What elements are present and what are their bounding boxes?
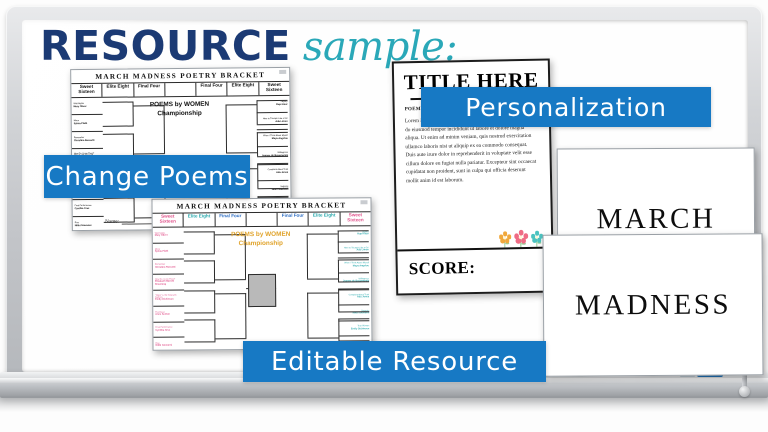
title-word-resource: RESOURCE	[40, 26, 291, 67]
bracket-championship-label: POEMS by WOMENChampionship	[133, 101, 226, 119]
seed-poem-author: Cynthia Cruz	[75, 208, 104, 211]
bracket-connector	[184, 312, 215, 313]
bracket-seed-cell[interactable]: "Hope" is the thing with feathersEmily D…	[153, 291, 184, 307]
bracket-connector	[184, 290, 215, 291]
bracket-seed-cell[interactable]: How Do I Love Thee?Elizabeth Barrett Bro…	[153, 275, 184, 291]
bracket-header-cell: Final Four	[134, 83, 165, 96]
bracket-seed-cell[interactable]: Final PerformanceCynthia Cruz	[153, 322, 184, 338]
bracket-header-cell	[165, 83, 196, 96]
seed-poem-author: Elizabeth Barrett Browning	[155, 281, 184, 287]
bracket-connector	[338, 259, 369, 260]
bracket-corner-mark-2	[360, 200, 367, 204]
bracket-connector	[245, 293, 246, 338]
bracket-connector	[184, 342, 215, 343]
bracket-seed-column: Wild NightsMary OliverMirrorSylvia Plath…	[153, 228, 185, 346]
bracket-champion-slot[interactable]	[248, 274, 277, 307]
banner-personalization-label: Personalization	[465, 93, 667, 122]
word-card-march-text: MARCH	[596, 202, 715, 236]
bracket-connector	[102, 101, 133, 102]
bracket-header-cell: Elite Eight	[103, 83, 134, 96]
bracket-header-cell: Elite Eight	[184, 213, 215, 226]
bracket-connector	[184, 231, 215, 232]
bracket-seed-cell[interactable]: Final PerformanceCynthia Cruz	[73, 200, 104, 217]
bracket-connector	[338, 252, 369, 253]
banner-editable-resource[interactable]: Editable Resource	[243, 341, 546, 382]
bracket-header-cell: Final Four	[196, 83, 227, 96]
bracket-seed-cell[interactable]: MirrorSylvia Plath	[72, 115, 103, 132]
banner-editable-resource-label: Editable Resource	[271, 347, 518, 377]
bracket-seed-cell[interactable]: RememberChristina Rossetti	[72, 132, 103, 149]
bracket-seed-cell[interactable]: Wild NightsMary Oliver	[71, 98, 102, 115]
word-card-madness-text: MADNESS	[575, 288, 731, 322]
banner-change-poems-label: Change Poems	[46, 162, 249, 192]
bracket-connector	[215, 279, 246, 280]
bracket-seed-cell[interactable]: True WomenEmily Dickinson	[338, 321, 369, 337]
seed-poem-author: Nikki Giovanni	[155, 345, 184, 348]
bracket-seed-cell[interactable]: LegacyRupi Kaur	[338, 226, 369, 242]
seed-poem-author: Emily Dickinson	[341, 328, 370, 331]
flower-icon	[498, 231, 511, 247]
seed-poem-author: Ada Jones	[259, 172, 288, 175]
bracket-sheet-color[interactable]: MARCH MADNESS POETRY BRACKET Sweet Sixte…	[151, 197, 372, 351]
seed-poem-author: Christina Rossetti	[155, 266, 184, 269]
bracket-header-cell: Sweet Sixteen	[71, 84, 102, 97]
seed-poem-author: Rupi Kaur	[340, 233, 369, 236]
seed-poem-author: Cynthia Cruz	[155, 329, 184, 332]
bracket-seed-cell[interactable]: LegacyRupi Kaur	[257, 96, 288, 113]
seed-poem-author: Anne Sexton	[155, 313, 184, 316]
flower-decoration-group	[498, 231, 543, 248]
seed-poem-author: Emily Dickinson	[155, 299, 184, 302]
banner-change-poems[interactable]: Change Poems	[44, 155, 250, 198]
bracket-connector	[184, 319, 215, 320]
bracket-connector	[307, 234, 338, 235]
bracket-seed-cell[interactable]: RememberChristina Rossetti	[153, 259, 184, 275]
bracket-connector	[184, 260, 215, 261]
championship-line-2: Championship	[214, 239, 307, 248]
screenshot-stage: RESOURCE sample: MARCH MADNESS POETRY BR…	[0, 0, 768, 432]
seed-poem-author: Sylvia Plath	[74, 123, 103, 126]
bracket-seed-cell[interactable]: MirrorSylvia Plath	[153, 243, 184, 259]
bracket-header-cell	[246, 213, 277, 226]
bracket-connector	[226, 153, 257, 154]
bracket-header-cell: Elite Eight	[309, 212, 340, 225]
bracket-seed-cell[interactable]: The RoadAnne Sexton	[153, 306, 184, 322]
bracket-seed-cell[interactable]: Wild NightsMary Oliver	[153, 228, 184, 244]
bracket-championship-label: POEMS by WOMENChampionship	[214, 231, 307, 249]
banner-personalization[interactable]: Personalization	[421, 87, 711, 127]
bracket-connector	[338, 318, 369, 319]
championship-line-2: Championship	[133, 109, 226, 119]
bracket-seed-cell[interactable]: Here to Triumph Like a GirlAda Limon	[257, 113, 288, 130]
seed-poem-author: Maya Angelou	[340, 265, 369, 268]
bracket-body-2: Wild NightsMary OliverMirrorSylvia Plath…	[153, 226, 372, 346]
seed-poem-author: Christina Rossetti	[74, 140, 103, 143]
whiteboard-tray-shadow	[0, 396, 768, 412]
bracket-header-cell: Final Four	[215, 213, 246, 226]
bracket-header-cell: Sweet Sixteen	[340, 212, 370, 225]
seed-poem-author: Mary Oliver	[155, 235, 184, 238]
bracket-connector	[338, 282, 369, 283]
score-label: SCORE:	[397, 249, 552, 280]
seed-poem-author: Nikki Giovanni	[75, 225, 104, 228]
seed-poem-author: Sylvia Plath	[155, 250, 184, 253]
bracket-header-cell: Sweet Sixteen	[259, 82, 289, 95]
bracket-connector	[307, 293, 338, 294]
bracket-connector	[184, 253, 215, 254]
flower-icon	[513, 230, 528, 249]
bracket-seed-cell[interactable]: Complaint About TruthAda Jones	[257, 164, 288, 181]
bracket-seed-cell[interactable]: Here to Triumph Like a GirlAda Limon	[338, 242, 369, 258]
seed-poem-author: Mary Oliver	[74, 106, 103, 109]
bracket-header-cell: Elite Eight	[228, 82, 259, 95]
bracket-name-label: Name:	[105, 219, 119, 225]
seed-poem-author: Rupi Kaur	[259, 104, 288, 107]
bracket-seed-column: LegacyRupi KaurHere to Triumph Like a Gi…	[338, 226, 370, 344]
bracket-connector	[103, 133, 134, 134]
bracket-connector	[215, 293, 246, 294]
bracket-header-cell: Sweet Sixteen	[153, 214, 184, 227]
bracket-seed-cell[interactable]: RiseNikki Giovanni	[73, 217, 104, 231]
bracket-connector	[215, 338, 246, 339]
word-card-madness[interactable]: MADNESS	[543, 233, 764, 377]
bracket-connector	[308, 337, 339, 338]
bracket-connector	[338, 230, 369, 231]
bracket-corner-mark	[279, 70, 286, 74]
bracket-header-cell: Final Four	[278, 213, 309, 226]
score-section: SCORE:	[397, 247, 552, 294]
bracket-connector	[307, 278, 338, 279]
bracket-connector	[338, 311, 369, 312]
flower-icon	[530, 231, 543, 247]
bracket-connector	[103, 126, 134, 127]
seed-poem-author: Maya Angelou	[259, 138, 288, 141]
seed-poem-author: Nikki Giovanni	[340, 312, 369, 315]
bracket-seed-cell[interactable]: RiseNikki Giovanni	[153, 338, 184, 351]
bracket-connector	[338, 289, 369, 290]
seed-poem-author: Ada Jones	[340, 296, 369, 299]
bracket-connector	[307, 293, 308, 338]
bracket-seed-cell[interactable]: Complaint About TruthAda Jones	[338, 289, 369, 305]
whiteboard-mount-knob	[739, 386, 750, 397]
bracket-header-row-2: Sweet SixteenElite EightFinal FourFinal …	[153, 211, 371, 228]
bracket-connector	[184, 283, 215, 284]
bracket-connector	[226, 104, 257, 105]
